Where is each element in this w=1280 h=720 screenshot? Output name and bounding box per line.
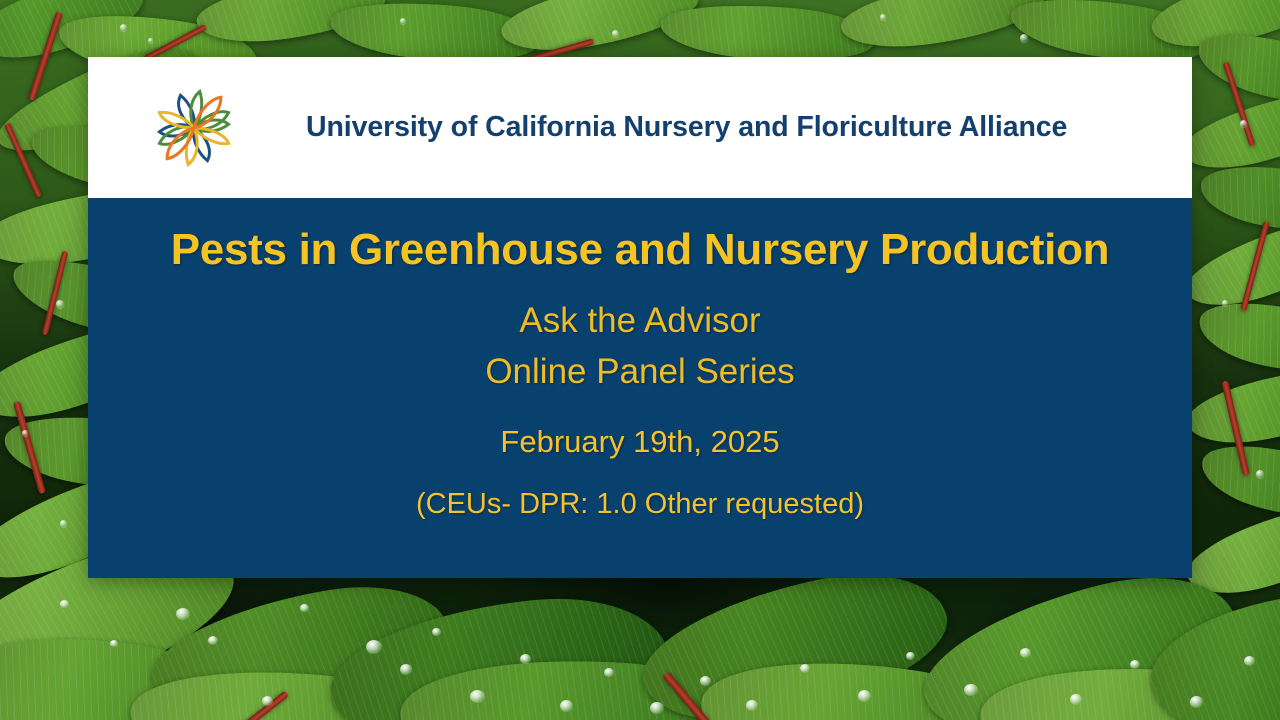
event-date: February 19th, 2025 bbox=[500, 424, 779, 460]
water-droplet bbox=[800, 664, 810, 673]
organization-name: University of California Nursery and Flo… bbox=[306, 111, 1067, 144]
water-droplet bbox=[1070, 694, 1082, 705]
water-droplet bbox=[262, 696, 273, 706]
water-droplet bbox=[60, 520, 67, 527]
water-droplet bbox=[1256, 470, 1264, 478]
water-droplet bbox=[110, 640, 118, 647]
water-droplet bbox=[700, 676, 711, 686]
slide-content-card: University of California Nursery and Flo… bbox=[88, 57, 1192, 578]
water-droplet bbox=[300, 604, 309, 612]
water-droplet bbox=[176, 608, 190, 620]
water-droplet bbox=[400, 664, 412, 675]
water-droplet bbox=[906, 652, 915, 660]
water-droplet bbox=[1130, 660, 1140, 669]
water-droplet bbox=[880, 14, 886, 20]
water-droplet bbox=[520, 654, 531, 664]
water-droplet bbox=[470, 690, 485, 703]
page-title: Pests in Greenhouse and Nursery Producti… bbox=[171, 225, 1110, 274]
title-body: Pests in Greenhouse and Nursery Producti… bbox=[88, 198, 1192, 578]
water-droplet bbox=[60, 600, 69, 608]
water-droplet bbox=[366, 640, 382, 654]
water-droplet bbox=[432, 628, 441, 636]
water-droplet bbox=[400, 18, 406, 24]
water-droplet bbox=[1020, 648, 1031, 658]
water-droplet bbox=[604, 668, 614, 677]
logo-header-band: University of California Nursery and Flo… bbox=[88, 57, 1192, 198]
water-droplet bbox=[1222, 300, 1228, 306]
series-name: Ask the Advisor Online Panel Series bbox=[485, 296, 794, 398]
water-droplet bbox=[1244, 656, 1255, 666]
water-droplet bbox=[1020, 34, 1028, 42]
water-droplet bbox=[56, 300, 64, 308]
water-droplet bbox=[22, 430, 28, 436]
water-droplet bbox=[650, 702, 664, 714]
uc-nursery-floriculture-alliance-pinwheel-logo bbox=[146, 80, 242, 176]
water-droplet bbox=[1190, 696, 1203, 708]
continuing-education-credits-note: (CEUs- DPR: 1.0 Other requested) bbox=[416, 488, 864, 521]
series-line-2: Online Panel Series bbox=[485, 347, 794, 398]
water-droplet bbox=[858, 690, 871, 702]
water-droplet bbox=[746, 700, 758, 711]
water-droplet bbox=[964, 684, 978, 696]
water-droplet bbox=[1240, 120, 1247, 127]
series-line-1: Ask the Advisor bbox=[485, 296, 794, 347]
water-droplet bbox=[148, 38, 153, 43]
water-droplet bbox=[120, 24, 127, 31]
water-droplet bbox=[612, 30, 619, 37]
water-droplet bbox=[208, 636, 218, 645]
water-droplet bbox=[560, 700, 573, 712]
